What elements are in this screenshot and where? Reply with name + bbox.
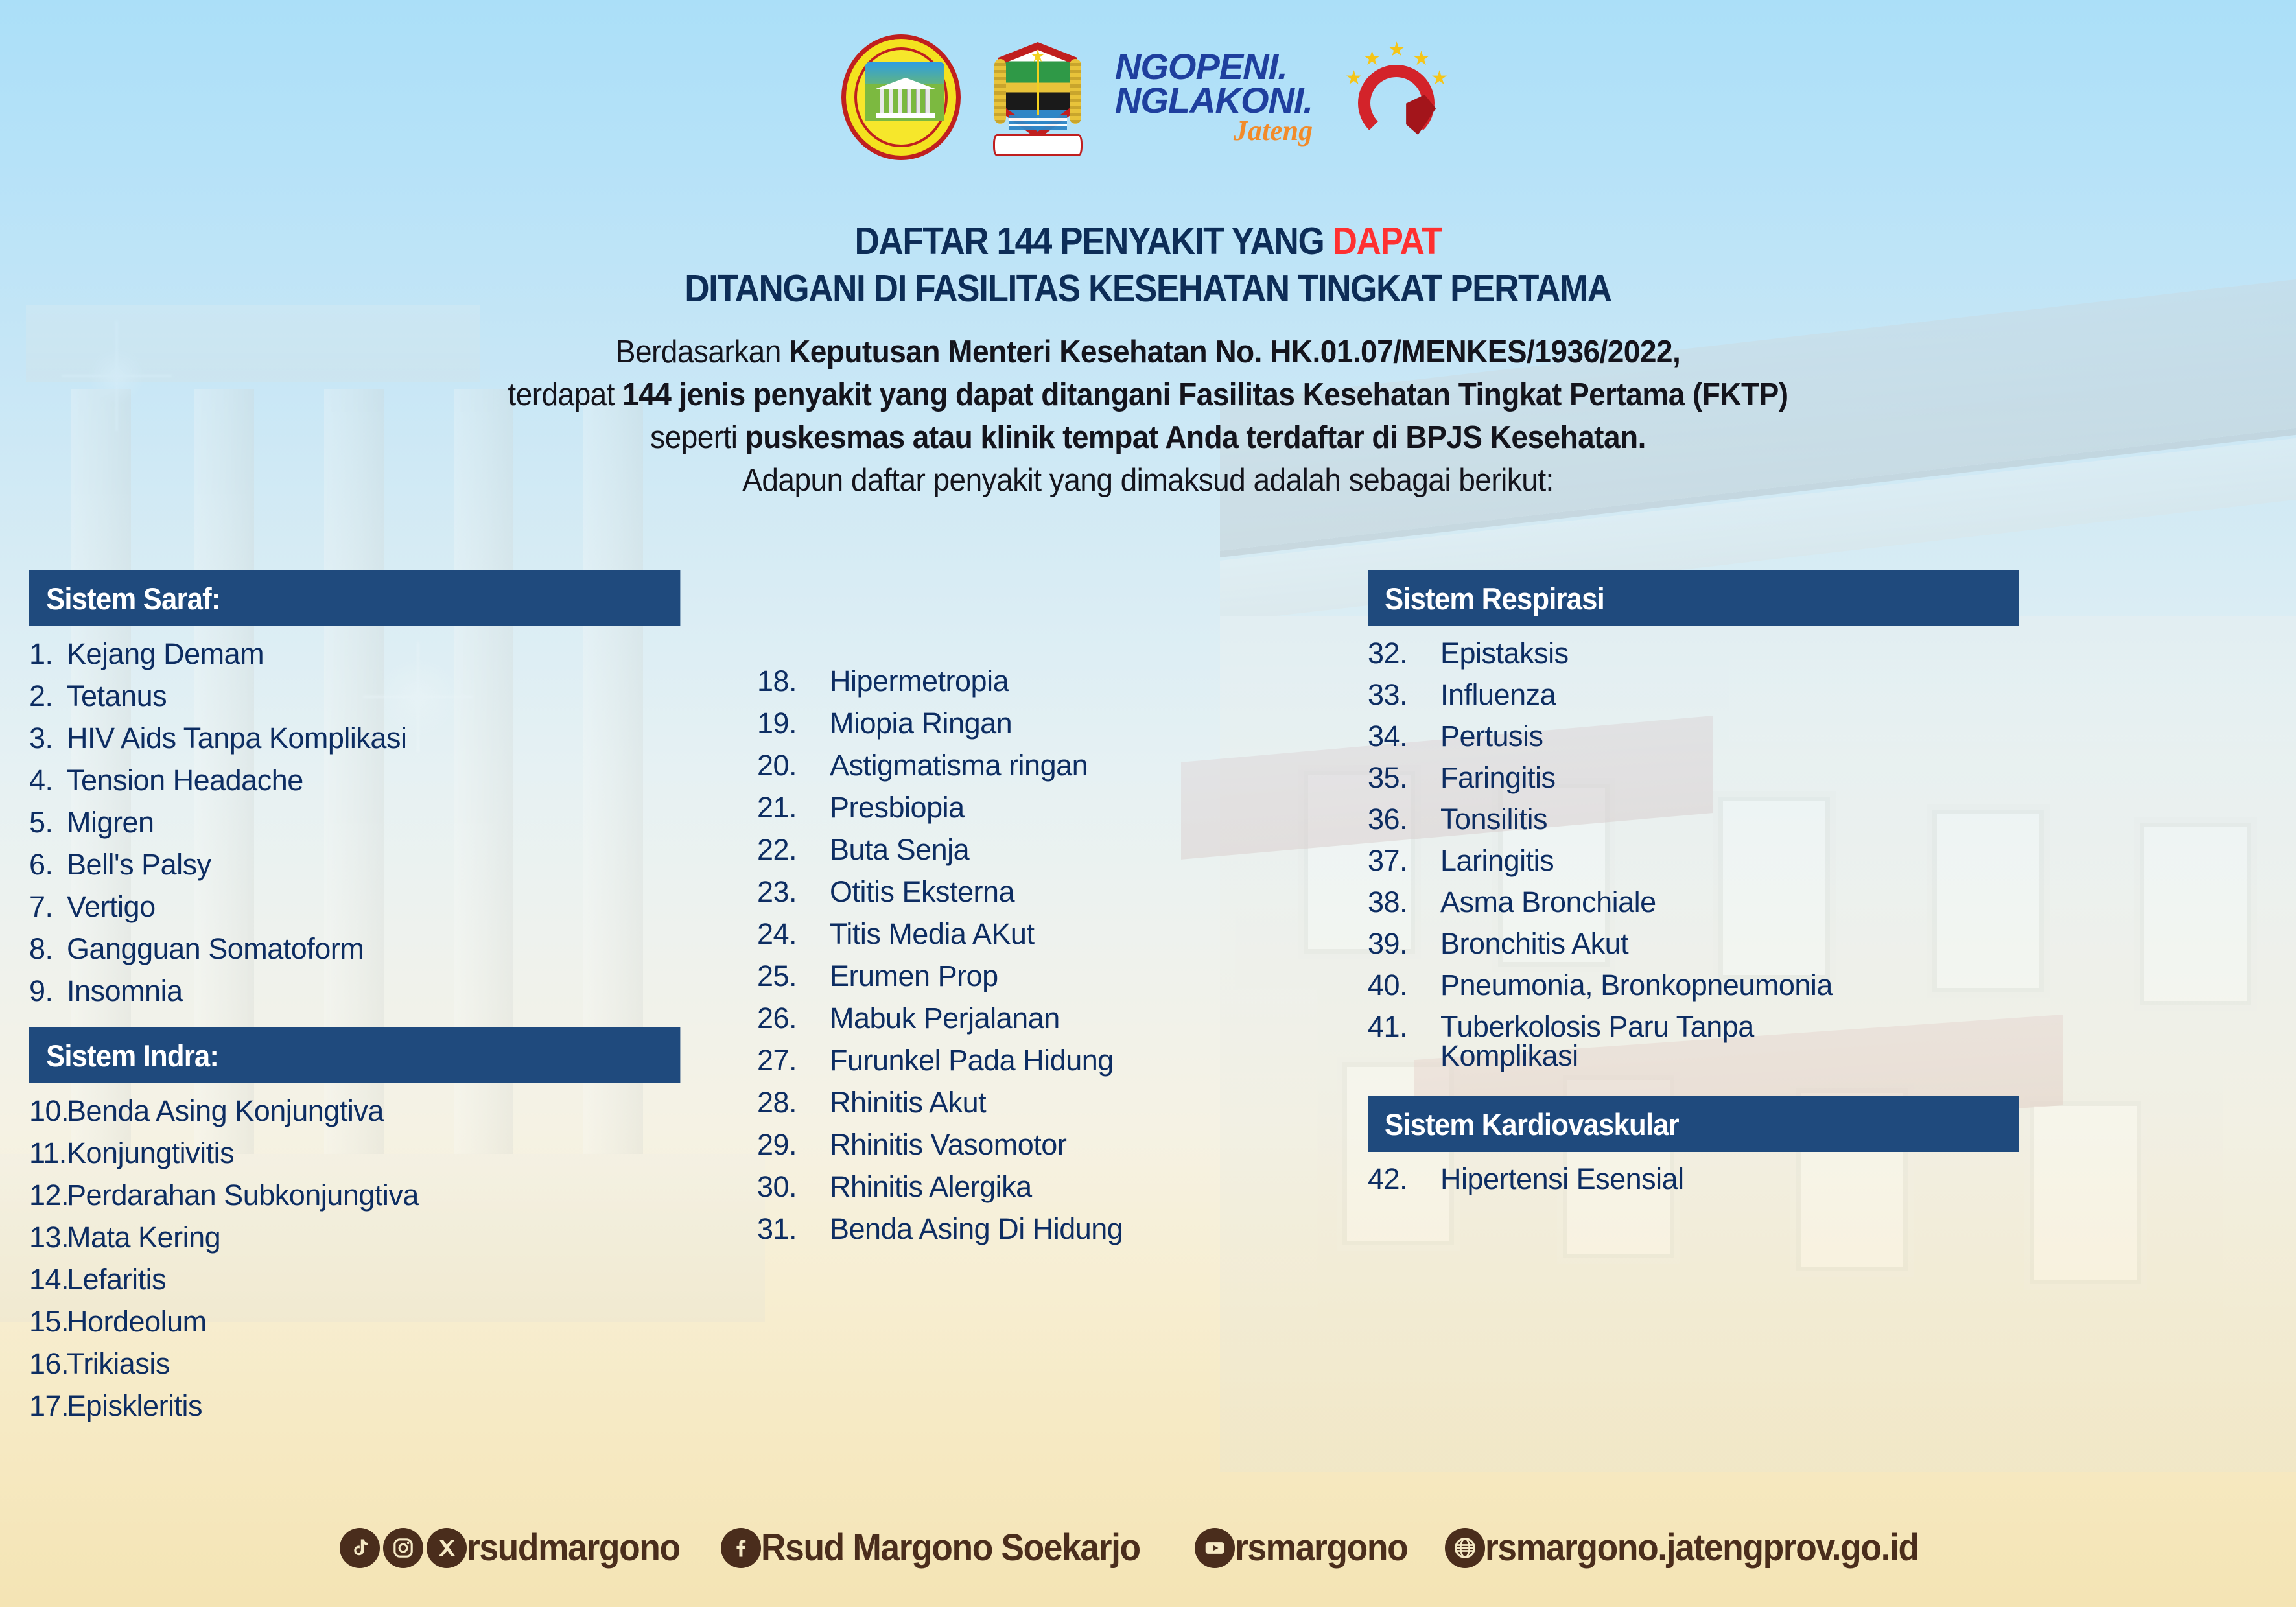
list-item: 3.HIV Aids Tanpa Komplikasi bbox=[29, 723, 729, 753]
disease-label: Tetanus bbox=[67, 681, 729, 710]
disease-number: 3. bbox=[29, 723, 67, 753]
list-item: 20.Astigmatisma ringan bbox=[757, 751, 1341, 780]
disease-label: Gangguan Somatoform bbox=[67, 934, 729, 963]
disease-label: Asma Bronchiale bbox=[1440, 887, 2068, 917]
disease-number: 13. bbox=[29, 1223, 67, 1252]
disease-number: 38. bbox=[1368, 887, 1440, 917]
subtitle-block: Berdasarkan Keputusan Menteri Kesehatan … bbox=[0, 331, 2296, 502]
list-item: 26.Mabuk Perjalanan bbox=[757, 1003, 1341, 1033]
disease-label: Otitis Eksterna bbox=[830, 877, 1341, 906]
column-middle: 18.Hipermetropia19.Miopia Ringan20.Astig… bbox=[757, 653, 1341, 1243]
list-item: 5.Migren bbox=[29, 808, 729, 837]
section-header-saraf: Sistem Saraf: bbox=[29, 570, 680, 626]
disease-label: Pertusis bbox=[1440, 721, 2068, 751]
list-sistem-respirasi: 32.Epistaksis33.Influenza34.Pertusis35.F… bbox=[1368, 639, 2068, 1070]
disease-number: 29. bbox=[757, 1130, 830, 1159]
list-item: 31.Benda Asing Di Hidung bbox=[757, 1214, 1341, 1243]
subtitle-1-bold: Keputusan Menteri Kesehatan No. HK.01.07… bbox=[789, 334, 1680, 369]
disease-label: Rhinitis Vasomotor bbox=[830, 1130, 1341, 1159]
disease-label: Rhinitis Akut bbox=[830, 1088, 1341, 1117]
disease-label: Tuberkolosis Paru Tanpa Komplikasi bbox=[1440, 1012, 2068, 1070]
list-sistem-indra-continued: 18.Hipermetropia19.Miopia Ringan20.Astig… bbox=[757, 666, 1341, 1243]
disease-label: Astigmatisma ringan bbox=[830, 751, 1341, 780]
list-item: 18.Hipermetropia bbox=[757, 666, 1341, 696]
social-handles-group[interactable]: rsudmargono bbox=[340, 1526, 698, 1569]
title-block: DAFTAR 144 PENYAKIT YANG DAPAT DITANGANI… bbox=[0, 218, 2296, 312]
quality-q-stars-logo: ★ ★ ★ ★ ★ bbox=[1341, 39, 1455, 156]
list-item: 28.Rhinitis Akut bbox=[757, 1088, 1341, 1117]
list-item: 22.Buta Senja bbox=[757, 835, 1341, 864]
disease-number: 20. bbox=[757, 751, 830, 780]
disease-number: 7. bbox=[29, 892, 67, 921]
disease-label: Episkleritis bbox=[67, 1391, 729, 1420]
list-sistem-kardiovaskular: 42.Hipertensi Esensial bbox=[1368, 1164, 2068, 1193]
disease-label: Mata Kering bbox=[67, 1223, 729, 1252]
disease-label: Perdarahan Subkonjungtiva bbox=[67, 1180, 729, 1210]
rsud-margono-seal-logo bbox=[841, 34, 961, 160]
list-item: 1.Kejang Demam bbox=[29, 639, 729, 668]
disease-number: 39. bbox=[1368, 929, 1440, 958]
disease-number: 40. bbox=[1368, 970, 1440, 1000]
title-text-main: DAFTAR 144 PENYAKIT YANG bbox=[855, 220, 1333, 263]
list-item: 35.Faringitis bbox=[1368, 763, 2068, 792]
disease-number: 9. bbox=[29, 976, 67, 1005]
social-handle-label: rsudmargono bbox=[467, 1526, 680, 1569]
subtitle-1-normal: Berdasarkan bbox=[616, 334, 789, 369]
disease-label: Benda Asing Konjungtiva bbox=[67, 1096, 729, 1125]
disease-number: 12. bbox=[29, 1180, 67, 1210]
ngopeni-nglakoni-jateng-logo: NGOPENI. NGLAKONI. Jateng bbox=[1115, 50, 1313, 145]
list-item: 12.Perdarahan Subkonjungtiva bbox=[29, 1180, 729, 1210]
disease-label: Insomnia bbox=[67, 976, 729, 1005]
facebook-group[interactable]: Rsud Margono Soekarjo bbox=[721, 1526, 1173, 1569]
disease-number: 4. bbox=[29, 766, 67, 795]
disease-label: Bronchitis Akut bbox=[1440, 929, 2068, 958]
subtitle-3-bold: puskesmas atau klinik tempat Anda terdaf… bbox=[745, 420, 1646, 455]
list-item: 4.Tension Headache bbox=[29, 766, 729, 795]
disease-label: Furunkel Pada Hidung bbox=[830, 1046, 1341, 1075]
disease-number: 24. bbox=[757, 919, 830, 948]
disease-number: 37. bbox=[1368, 846, 1440, 875]
youtube-handle-label: rsmargono bbox=[1235, 1526, 1407, 1569]
list-item: 41.Tuberkolosis Paru Tanpa Komplikasi bbox=[1368, 1012, 2068, 1070]
x-twitter-icon[interactable] bbox=[427, 1528, 467, 1568]
ngopeni-line1: NGOPENI. bbox=[1115, 50, 1313, 84]
disease-number: 27. bbox=[757, 1046, 830, 1075]
disease-number: 21. bbox=[757, 793, 830, 822]
disease-number: 30. bbox=[757, 1172, 830, 1201]
youtube-group[interactable]: rsmargono bbox=[1195, 1526, 1422, 1569]
disease-label: Hipertensi Esensial bbox=[1440, 1164, 2068, 1193]
list-item: 23.Otitis Eksterna bbox=[757, 877, 1341, 906]
title-text-highlight: DAPAT bbox=[1333, 220, 1442, 263]
disease-label: Bell's Palsy bbox=[67, 850, 729, 879]
column-left: Sistem Saraf: 1.Kejang Demam2.Tetanus3.H… bbox=[29, 570, 729, 1420]
disease-number: 28. bbox=[757, 1088, 830, 1117]
instagram-icon[interactable] bbox=[383, 1528, 423, 1568]
tiktok-icon[interactable] bbox=[340, 1528, 380, 1568]
disease-label: Titis Media AKut bbox=[830, 919, 1341, 948]
list-item: 30.Rhinitis Alergika bbox=[757, 1172, 1341, 1201]
facebook-icon[interactable] bbox=[721, 1528, 761, 1568]
disease-label: Faringitis bbox=[1440, 763, 2068, 792]
disease-label: Buta Senja bbox=[830, 835, 1341, 864]
disease-number: 33. bbox=[1368, 680, 1440, 709]
page-title-line-2: DITANGANI DI FASILITAS KESEHATAN TINGKAT… bbox=[115, 265, 2181, 312]
list-sistem-indra: 10.Benda Asing Konjungtiva11.Konjungtivi… bbox=[29, 1096, 729, 1420]
disease-label: Mabuk Perjalanan bbox=[830, 1003, 1341, 1033]
website-group[interactable]: rsmargono.jatengprov.go.id bbox=[1445, 1526, 1956, 1569]
list-item: 38.Asma Bronchiale bbox=[1368, 887, 2068, 917]
disease-number: 41. bbox=[1368, 1012, 1440, 1070]
disease-label: Benda Asing Di Hidung bbox=[830, 1214, 1341, 1243]
disease-number: 19. bbox=[757, 709, 830, 738]
disease-label: Kejang Demam bbox=[67, 639, 729, 668]
list-item: 16.Trikiasis bbox=[29, 1349, 729, 1378]
subtitle-3-normal: seperti bbox=[650, 420, 745, 455]
list-item: 34.Pertusis bbox=[1368, 721, 2068, 751]
list-item: 9.Insomnia bbox=[29, 976, 729, 1005]
disease-label: Laringitis bbox=[1440, 846, 2068, 875]
list-item: 17.Episkleritis bbox=[29, 1391, 729, 1420]
list-item: 25.Erumen Prop bbox=[757, 961, 1341, 991]
disease-number: 8. bbox=[29, 934, 67, 963]
list-item: 10.Benda Asing Konjungtiva bbox=[29, 1096, 729, 1125]
section-header-kardiovaskular: Sistem Kardiovaskular bbox=[1368, 1096, 2019, 1152]
disease-number: 31. bbox=[757, 1214, 830, 1243]
disease-number: 5. bbox=[29, 808, 67, 837]
disease-label: Vertigo bbox=[67, 892, 729, 921]
disease-number: 15. bbox=[29, 1307, 67, 1336]
list-item: 32.Epistaksis bbox=[1368, 639, 2068, 668]
disease-number: 11. bbox=[29, 1138, 67, 1167]
subtitle-2-normal: terdapat bbox=[508, 377, 622, 412]
website-url-label: rsmargono.jatengprov.go.id bbox=[1485, 1526, 1919, 1569]
disease-number: 17. bbox=[29, 1391, 67, 1420]
list-item: 33.Influenza bbox=[1368, 680, 2068, 709]
list-item: 39.Bronchitis Akut bbox=[1368, 929, 2068, 958]
facebook-handle-label: Rsud Margono Soekarjo bbox=[761, 1526, 1140, 1569]
disease-number: 2. bbox=[29, 681, 67, 710]
ngopeni-line2: NGLAKONI. bbox=[1115, 84, 1313, 117]
list-item: 6.Bell's Palsy bbox=[29, 850, 729, 879]
disease-label: Lefaritis bbox=[67, 1265, 729, 1294]
list-sistem-saraf: 1.Kejang Demam2.Tetanus3.HIV Aids Tanpa … bbox=[29, 639, 729, 1005]
section-header-respirasi: Sistem Respirasi bbox=[1368, 570, 2019, 626]
list-item: 7.Vertigo bbox=[29, 892, 729, 921]
column-right: Sistem Respirasi 32.Epistaksis33.Influen… bbox=[1368, 570, 2068, 1193]
disease-number: 18. bbox=[757, 666, 830, 696]
disease-number: 26. bbox=[757, 1003, 830, 1033]
disease-number: 22. bbox=[757, 835, 830, 864]
page-title-line-1: DAFTAR 144 PENYAKIT YANG DAPAT bbox=[115, 218, 2181, 265]
subtitle-line-3: seperti puskesmas atau klinik tempat And… bbox=[69, 416, 2227, 459]
disease-label: Rhinitis Alergika bbox=[830, 1172, 1341, 1201]
disease-number: 42. bbox=[1368, 1164, 1440, 1193]
subtitle-2-bold: 144 jenis penyakit yang dapat ditangani … bbox=[622, 377, 1788, 412]
disease-label: Tension Headache bbox=[67, 766, 729, 795]
disease-number: 36. bbox=[1368, 804, 1440, 834]
disease-number: 32. bbox=[1368, 639, 1440, 668]
logo-row: ★ NGOPENI. NGLAKONI. Jateng ★ ★ ★ ★ ★ bbox=[0, 36, 2296, 159]
disease-number: 35. bbox=[1368, 763, 1440, 792]
ngopeni-jateng-script: Jateng bbox=[1234, 118, 1313, 144]
disease-label: Konjungtivitis bbox=[67, 1138, 729, 1167]
disease-number: 34. bbox=[1368, 721, 1440, 751]
subtitle-line-4: Adapun daftar penyakit yang dimaksud ada… bbox=[69, 459, 2227, 502]
list-item: 15.Hordeolum bbox=[29, 1307, 729, 1336]
list-item: 36.Tonsilitis bbox=[1368, 804, 2068, 834]
disease-label: Trikiasis bbox=[67, 1349, 729, 1378]
disease-label: Epistaksis bbox=[1440, 639, 2068, 668]
list-item: 40.Pneumonia, Bronkopneumonia bbox=[1368, 970, 2068, 1000]
disease-number: 23. bbox=[757, 877, 830, 906]
disease-number: 6. bbox=[29, 850, 67, 879]
list-item: 8.Gangguan Somatoform bbox=[29, 934, 729, 963]
disease-label: Hipermetropia bbox=[830, 666, 1341, 696]
subtitle-line-2: terdapat 144 jenis penyakit yang dapat d… bbox=[69, 373, 2227, 416]
list-item: 29.Rhinitis Vasomotor bbox=[757, 1130, 1341, 1159]
disease-label: Presbiopia bbox=[830, 793, 1341, 822]
list-item: 11.Konjungtivitis bbox=[29, 1138, 729, 1167]
disease-label: Miopia Ringan bbox=[830, 709, 1341, 738]
disease-label: Migren bbox=[67, 808, 729, 837]
globe-icon[interactable] bbox=[1445, 1528, 1485, 1568]
disease-number: 1. bbox=[29, 639, 67, 668]
social-footer: rsudmargono Rsud Margono Soekarjo rsmarg… bbox=[0, 1526, 2296, 1569]
disease-label: Influenza bbox=[1440, 680, 2068, 709]
list-item: 14.Lefaritis bbox=[29, 1265, 729, 1294]
disease-number: 16. bbox=[29, 1349, 67, 1378]
youtube-icon[interactable] bbox=[1195, 1528, 1235, 1568]
list-item: 21.Presbiopia bbox=[757, 793, 1341, 822]
subtitle-line-1: Berdasarkan Keputusan Menteri Kesehatan … bbox=[69, 331, 2227, 373]
disease-number: 10. bbox=[29, 1096, 67, 1125]
disease-number: 14. bbox=[29, 1265, 67, 1294]
list-item: 37.Laringitis bbox=[1368, 846, 2068, 875]
disease-label: Hordeolum bbox=[67, 1307, 729, 1336]
list-item: 27.Furunkel Pada Hidung bbox=[757, 1046, 1341, 1075]
list-item: 2.Tetanus bbox=[29, 681, 729, 710]
disease-label: Tonsilitis bbox=[1440, 804, 2068, 834]
disease-list-content: Sistem Saraf: 1.Kejang Demam2.Tetanus3.H… bbox=[0, 570, 2296, 1407]
list-item: 42.Hipertensi Esensial bbox=[1368, 1164, 2068, 1193]
disease-number: 25. bbox=[757, 961, 830, 991]
disease-label: Erumen Prop bbox=[830, 961, 1341, 991]
list-item: 19.Miopia Ringan bbox=[757, 709, 1341, 738]
disease-label: HIV Aids Tanpa Komplikasi bbox=[67, 723, 729, 753]
list-item: 13.Mata Kering bbox=[29, 1223, 729, 1252]
disease-label: Pneumonia, Bronkopneumonia bbox=[1440, 970, 2068, 1000]
jawa-tengah-emblem-logo: ★ bbox=[989, 36, 1086, 159]
section-header-indra: Sistem Indra: bbox=[29, 1027, 680, 1083]
list-item: 24.Titis Media AKut bbox=[757, 919, 1341, 948]
